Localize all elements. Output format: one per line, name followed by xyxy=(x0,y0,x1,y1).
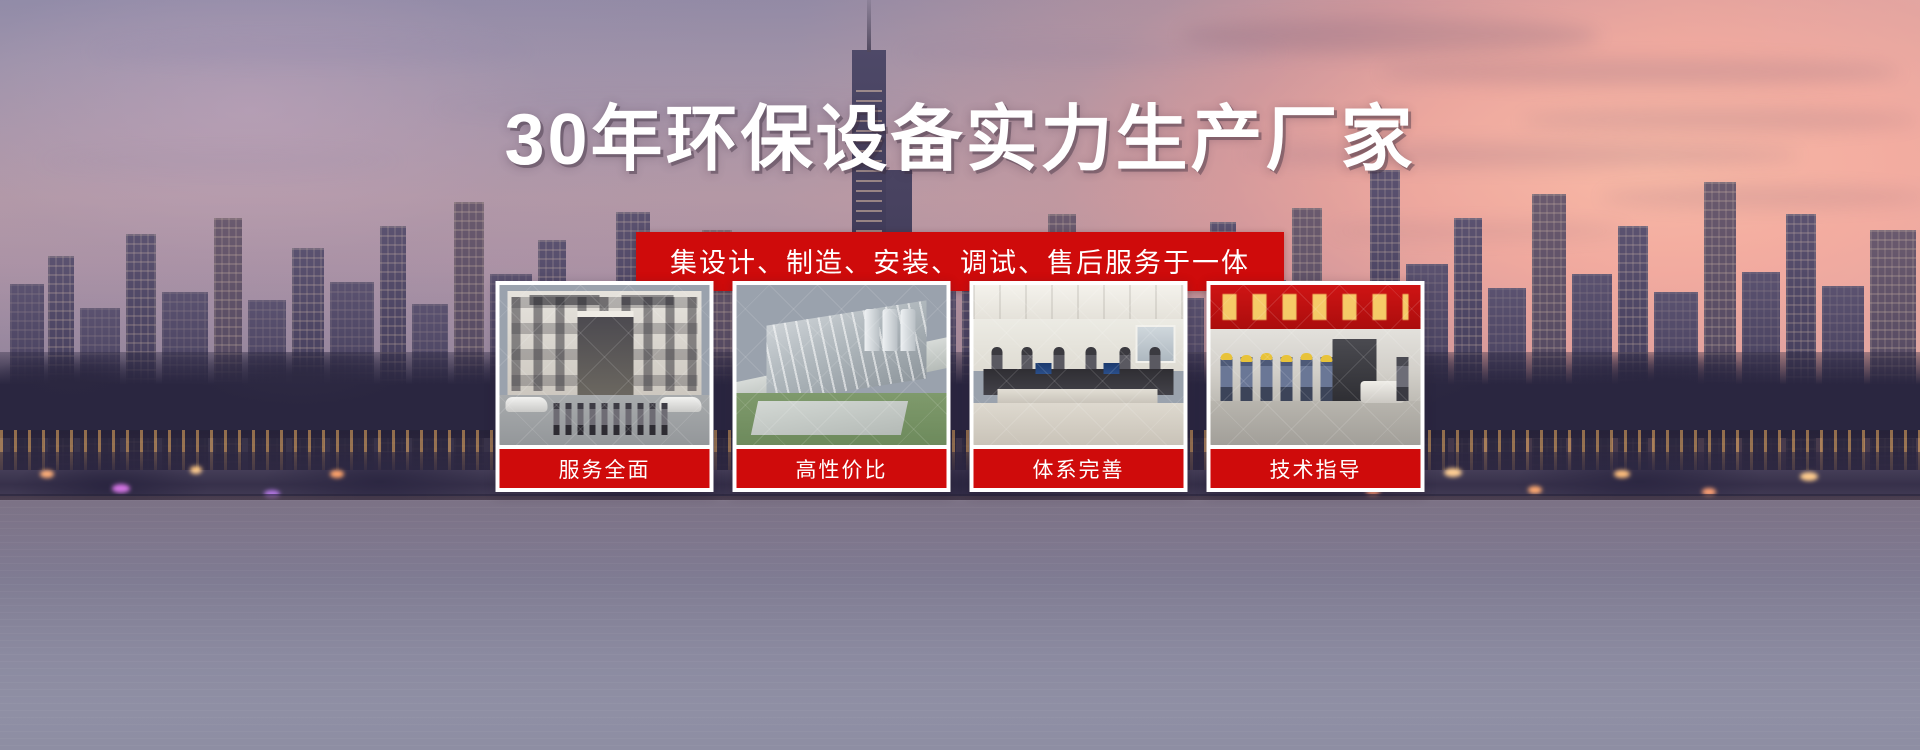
feature-card-caption: 高性价比 xyxy=(737,449,947,488)
feature-card-caption: 技术指导 xyxy=(1211,449,1421,488)
feature-card[interactable]: 技术指导 xyxy=(1207,281,1425,492)
company-office-building-staff-photo xyxy=(500,285,710,445)
factory-workers-training-photo xyxy=(1211,285,1421,445)
office-interior-meeting-photo xyxy=(974,285,1184,445)
feature-card[interactable]: 体系完善 xyxy=(970,281,1188,492)
hero-banner: 30年环保设备实力生产厂家 集设计、制造、安装、调试、售后服务于一体 xyxy=(0,0,1920,750)
feature-card[interactable]: 高性价比 xyxy=(733,281,951,492)
feature-card-caption: 体系完善 xyxy=(974,449,1184,488)
feature-card-list: 服务全面 高性价比 xyxy=(496,281,1425,492)
water-reflection-glow xyxy=(0,496,1920,616)
page-title: 30年环保设备实力生产厂家 xyxy=(0,104,1920,176)
feature-card[interactable]: 服务全面 xyxy=(496,281,714,492)
aerial-industrial-plant-photo xyxy=(737,285,947,445)
feature-card-caption: 服务全面 xyxy=(500,449,710,488)
